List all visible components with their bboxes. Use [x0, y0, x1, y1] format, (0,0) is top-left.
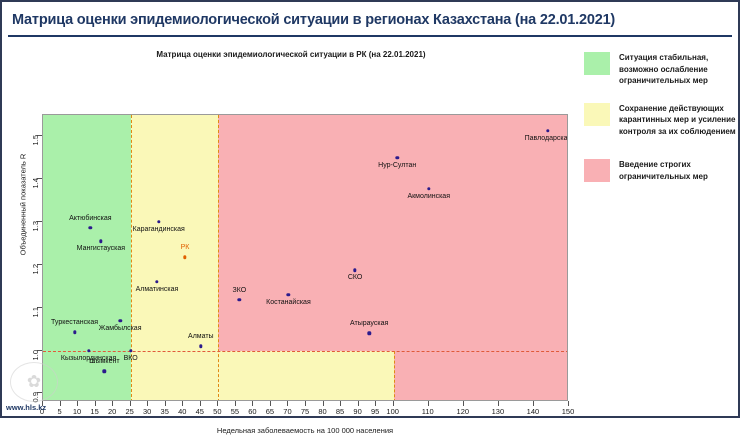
x-axis-label: Недельная заболеваемость на 100 000 насе…	[42, 426, 568, 435]
data-point-label: Алматы	[188, 333, 214, 340]
x-tick	[130, 401, 131, 406]
x-tick-label: 70	[283, 407, 291, 416]
x-tick	[533, 401, 534, 406]
legend: Ситуация стабильная, возможно ослабление…	[584, 52, 736, 198]
x-tick	[305, 401, 306, 406]
data-point-label: Карагандинская	[133, 226, 185, 233]
legend-label: Сохранение действующих карантинных мер и…	[619, 103, 736, 138]
x-tick-label: 10	[73, 407, 81, 416]
data-point-label: Шымкент	[89, 358, 119, 365]
threshold-line-x-yellow-red	[218, 115, 219, 401]
threshold-line-x-100	[394, 351, 395, 401]
legend-label: Введение строгих ограничительных мер	[619, 159, 736, 182]
x-tick-label: 85	[336, 407, 344, 416]
x-tick	[463, 401, 464, 406]
x-tick-label: 140	[527, 407, 540, 416]
x-tick	[568, 401, 569, 406]
x-tick-label: 150	[562, 407, 575, 416]
x-tick	[165, 401, 166, 406]
threshold-line-r1	[43, 351, 568, 352]
legend-item: Ситуация стабильная, возможно ослабление…	[584, 52, 736, 87]
x-tick-label: 50	[213, 407, 221, 416]
x-tick-label: 40	[178, 407, 186, 416]
legend-label: Ситуация стабильная, возможно ослабление…	[619, 52, 736, 87]
slide-container: Матрица оценки эпидемиологической ситуац…	[0, 0, 740, 418]
legend-item: Сохранение действующих карантинных мер и…	[584, 103, 736, 138]
x-tick	[95, 401, 96, 406]
x-tick-label: 120	[457, 407, 470, 416]
legend-swatch	[584, 103, 610, 126]
x-tick	[428, 401, 429, 406]
y-tick-label: 1.3	[31, 221, 40, 231]
data-point-label: РК	[181, 244, 190, 251]
x-tick	[287, 401, 288, 406]
x-tick	[182, 401, 183, 406]
x-tick-label: 130	[492, 407, 505, 416]
x-tick-label: 30	[143, 407, 151, 416]
chart-title: Матрица оценки эпидемиологической ситуац…	[8, 50, 574, 59]
watermark-url: www.hls.kz	[6, 403, 46, 412]
x-tick	[358, 401, 359, 406]
x-tick-label: 55	[231, 407, 239, 416]
x-tick-label: 100	[386, 407, 399, 416]
y-tick-label: 1.4	[31, 178, 40, 188]
x-tick-label: 35	[161, 407, 169, 416]
x-tick-label: 25	[125, 407, 133, 416]
plot-area: АктюбинскаяМангистаускаяТуркестанскаяЖам…	[42, 114, 568, 401]
slide-header: Матрица оценки эпидемиологической ситуац…	[8, 7, 732, 37]
data-point-label: Акмолинская	[407, 193, 450, 200]
legend-swatch	[584, 159, 610, 182]
data-point-label: Нур-Султан	[378, 162, 416, 169]
x-tick	[393, 401, 394, 406]
data-point-label: ЗКО	[233, 287, 247, 294]
x-tick-label: 60	[248, 407, 256, 416]
page-title: Матрица оценки эпидемиологической ситуац…	[8, 7, 732, 33]
x-tick	[323, 401, 324, 406]
x-tick-label: 90	[353, 407, 361, 416]
watermark: www.hls.kz	[4, 362, 66, 418]
zone-yellow-low	[218, 351, 393, 401]
data-point-label: ВКО	[124, 355, 138, 362]
x-tick-label: 75	[301, 407, 309, 416]
x-tick	[498, 401, 499, 406]
data-point-label: Костанайская	[266, 299, 311, 306]
x-tick-label: 15	[90, 407, 98, 416]
x-tick-label: 110	[422, 407, 434, 416]
data-point-label: Туркестанская	[51, 319, 98, 326]
x-tick-label: 80	[318, 407, 326, 416]
legend-swatch	[584, 52, 610, 75]
y-tick-label: 1.0	[31, 350, 40, 360]
chart-panel: Матрица оценки эпидемиологической ситуац…	[8, 40, 574, 412]
data-point-label: СКО	[348, 274, 363, 281]
data-point-label: Алматинская	[136, 286, 179, 293]
x-tick	[77, 401, 78, 406]
x-axis: 0510152025303540455055606570758085909510…	[42, 401, 569, 423]
x-tick	[217, 401, 218, 406]
x-tick	[235, 401, 236, 406]
x-tick	[375, 401, 376, 406]
x-tick-label: 65	[266, 407, 274, 416]
x-tick	[200, 401, 201, 406]
y-tick-label: 1.5	[31, 135, 40, 145]
x-tick-label: 95	[371, 407, 379, 416]
x-tick	[340, 401, 341, 406]
zone-yellow	[131, 115, 219, 401]
x-tick	[252, 401, 253, 406]
y-tick-label: 1.1	[31, 307, 40, 317]
legend-item: Введение строгих ограничительных мер	[584, 159, 736, 182]
data-point-label: Атырауская	[350, 320, 388, 327]
tree-emblem-icon	[10, 362, 58, 402]
data-point-label: Жамбылская	[99, 325, 142, 332]
x-tick-label: 20	[108, 407, 116, 416]
data-point-label: Мангистауская	[77, 245, 125, 252]
x-tick	[112, 401, 113, 406]
data-point-label: Актюбинская	[69, 215, 111, 222]
x-tick	[147, 401, 148, 406]
x-tick	[270, 401, 271, 406]
y-axis-label: Объединенный показатель R	[19, 130, 28, 280]
y-axis: 0.91.01.11.21.31.41.5	[26, 114, 42, 402]
data-point-label: Павлодарская	[525, 135, 568, 142]
x-tick-label: 45	[196, 407, 204, 416]
y-tick-label: 1.2	[31, 264, 40, 274]
